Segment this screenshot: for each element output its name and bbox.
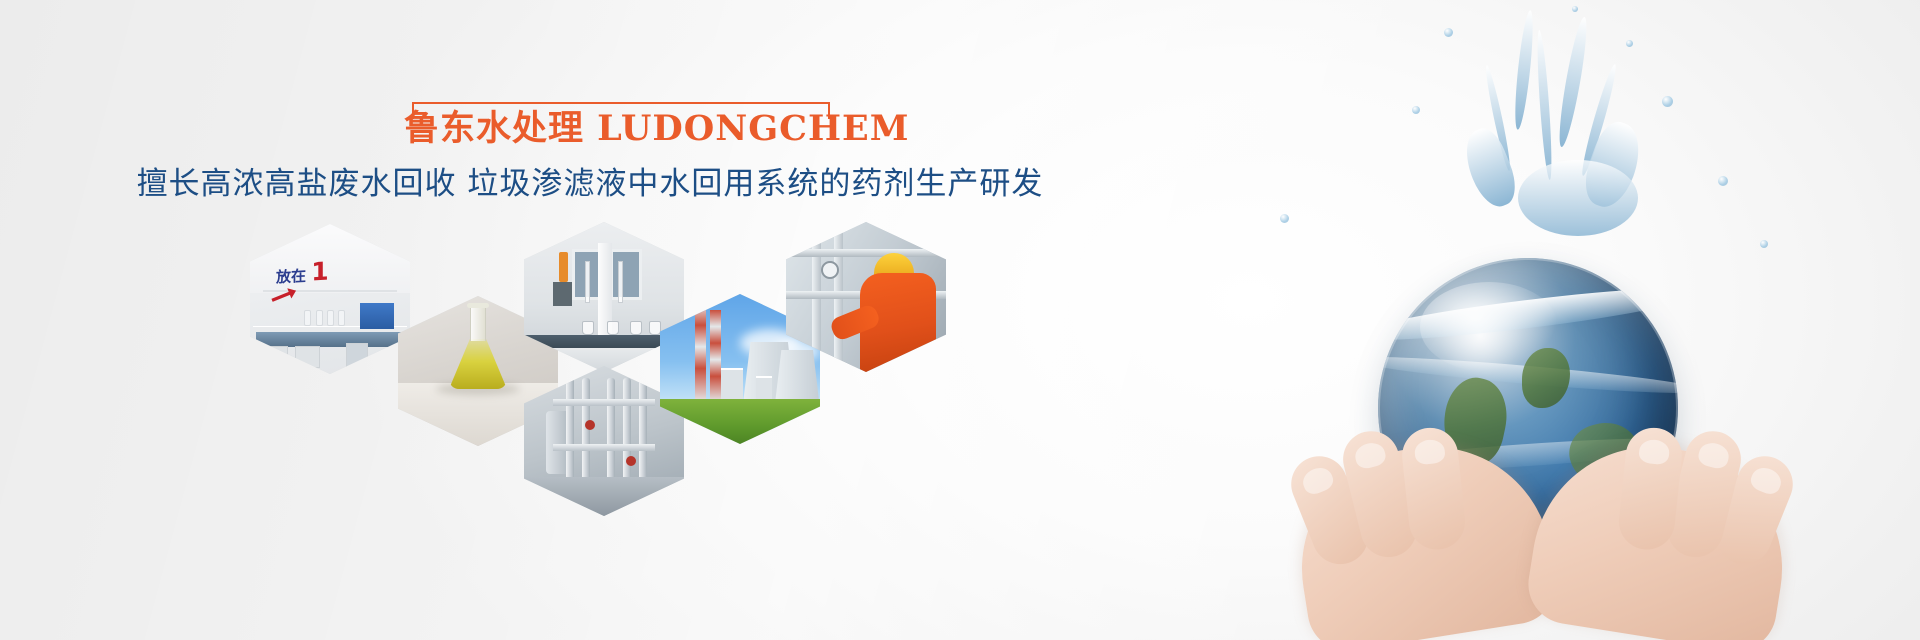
flask-lip (467, 303, 489, 308)
ceiling (250, 224, 410, 293)
water-splash (1390, 10, 1690, 280)
valve-icon (626, 456, 636, 466)
right-hand (1523, 430, 1800, 640)
water-droplet (1280, 214, 1289, 223)
fingernail (1353, 440, 1388, 471)
fingernail (1299, 464, 1336, 497)
glassware (582, 321, 594, 335)
fingernail (1414, 438, 1446, 465)
valve-icon (585, 420, 595, 430)
vertical-pipe (623, 378, 631, 483)
fingernail (1638, 438, 1670, 465)
bottle (316, 310, 323, 326)
cabinet (346, 343, 368, 369)
glassware (630, 321, 642, 335)
hex-tile-office-lab[interactable]: 放在 1 (250, 224, 410, 374)
grass-field (660, 399, 820, 444)
hexagon-gallery: 放在 1 (0, 0, 1040, 640)
slogan-prefix: 放在 (276, 267, 306, 287)
water-droplet (1760, 240, 1768, 248)
wall-slogan: 放在 1 (276, 259, 329, 288)
flask-body (449, 339, 507, 389)
cabinet (263, 346, 289, 369)
water-droplet (1718, 176, 1728, 186)
vertical-pipe (582, 378, 590, 483)
orange-marker (559, 252, 568, 282)
glass-rig (618, 261, 623, 303)
window (610, 249, 642, 300)
wall-line (263, 290, 397, 292)
office-lab-photo: 放在 1 (250, 224, 410, 374)
water-droplet (1662, 96, 1673, 107)
vertical-pipe (566, 378, 574, 483)
floor (524, 477, 684, 516)
plant-building (721, 368, 743, 402)
splash-sheet (1456, 123, 1523, 212)
fume-hood (553, 282, 572, 306)
bottle (327, 310, 334, 326)
flask-neck (470, 307, 486, 341)
splash-jet (1512, 10, 1536, 131)
equipment-box (360, 303, 394, 329)
glass-rig (585, 261, 590, 303)
horizontal-pipe (553, 399, 655, 406)
hero-banner: 鲁东水处理 LUDONGCHEM 擅长高浓高盐废水回收 垃圾渗滤液中水回用系统的… (0, 0, 1920, 640)
water-droplet (1412, 106, 1420, 114)
splash-jet (1555, 16, 1592, 148)
water-droplet (1572, 6, 1578, 12)
bottle (338, 310, 345, 326)
fingernail (1748, 464, 1785, 497)
bottle (304, 310, 311, 326)
horizontal-pipe (553, 444, 655, 451)
vertical-pipe (639, 378, 647, 483)
fingernail (1696, 440, 1731, 471)
chimney-stack (695, 294, 706, 402)
cabinet (295, 346, 321, 369)
water-droplet (1444, 28, 1453, 37)
splash-jet (1535, 30, 1554, 180)
left-hand (1285, 430, 1562, 640)
glassware (649, 321, 661, 335)
glassware (607, 321, 619, 335)
water-droplet (1626, 40, 1633, 47)
cupped-hands (1280, 398, 1800, 638)
cooling-tower (775, 350, 819, 402)
horizontal-pipe (786, 249, 946, 257)
chimney-stack (710, 310, 721, 402)
splash-crown (1518, 160, 1638, 236)
water-globe-scene (1240, 0, 1860, 640)
slogan-number: 1 (311, 257, 328, 287)
vertical-pipe (607, 378, 615, 483)
